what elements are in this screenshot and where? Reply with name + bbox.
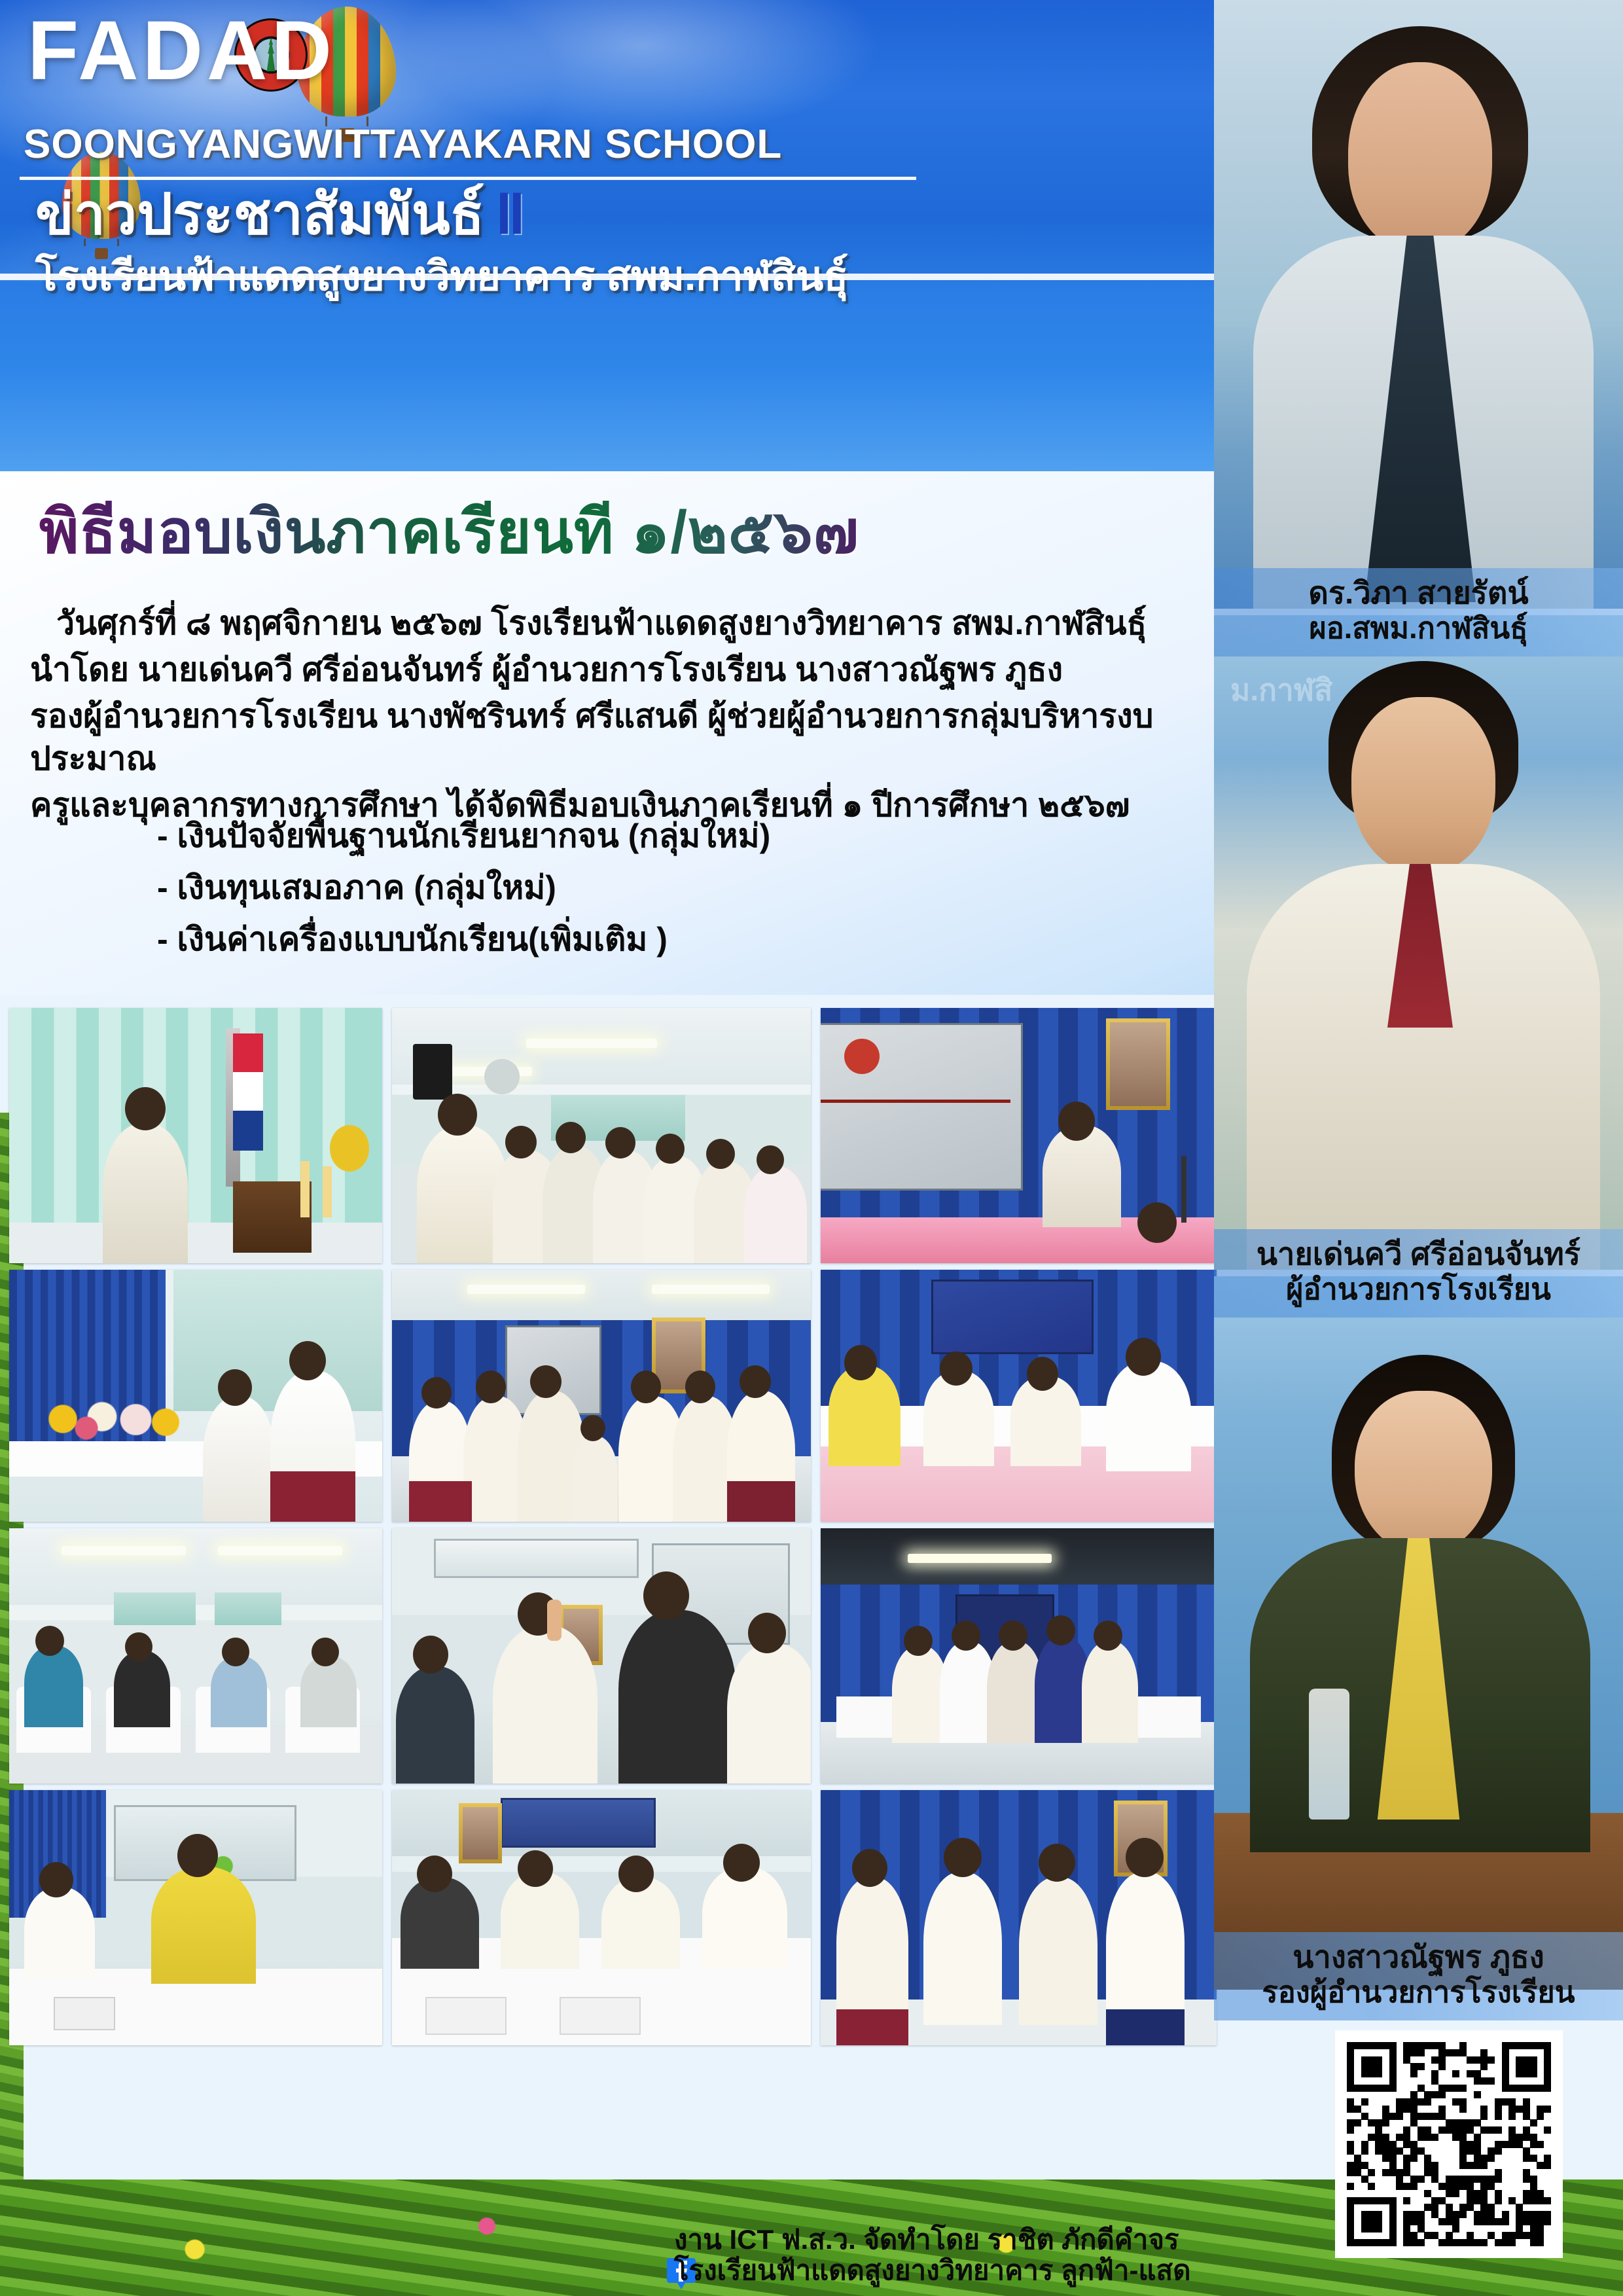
news-title-thai: ข่าวประชาสัมพันธ์ll (35, 185, 522, 244)
photo-award-line-up-stage (821, 1790, 1217, 2045)
credit-line-2: โรงเรียนฟ้าแดดสูงยางวิทยาคาร ลูกฟ้า-แสด (674, 2255, 1394, 2286)
person-title: ผู้อำนวยการโรงเรียน (1218, 1272, 1619, 1306)
allowance-list: - เงินปัจจัยพื้นฐานนักเรียนยากจน (กลุ่มใ… (157, 810, 1139, 965)
photo-teachers-at-desk (9, 1790, 382, 2045)
photo-students-signing-documents (821, 1270, 1217, 1522)
header-divider (20, 177, 916, 180)
person-name: นายเด่นควี ศรีอ่อนจันทร์ (1218, 1236, 1619, 1272)
photo-staff-students-wai (392, 1008, 811, 1263)
photo-teacher-speaking-flowers (9, 1270, 382, 1522)
name-label-director-spm: ดร.วิภา สายรัตน์ ผอ.สพม.กาฬสินธุ์ (1214, 568, 1623, 656)
body-line-1: วันศุกร์ที่ ๘ พฤศจิกายน ๒๕๖๗ โรงเรียนฟ้า… (30, 602, 1215, 645)
school-name-english: SOONGYANGWITTAYAKARN SCHOOL (24, 124, 782, 165)
list-item: - เงินปัจจัยพื้นฐานนักเรียนยากจน (กลุ่มใ… (157, 810, 1139, 862)
footer-credit: งาน ICT ฟ.ส.ว. จัดทำโดย ราชิต ภักดีคำจร … (674, 2224, 1394, 2286)
portrait-photo-deputy-director (1214, 1276, 1623, 1990)
person-name: นางสาวณัฐพร ภูธง (1218, 1939, 1619, 1975)
brand-title: FADAD (27, 9, 336, 93)
body-line-2: นำโดย นายเด่นควี ศรีอ่อนจันทร์ ผู้อำนวยก… (30, 649, 1215, 691)
photo-students-raising-hands (392, 1528, 811, 1784)
person-name: ดร.วิภา สายรัตน์ (1218, 575, 1619, 611)
name-label-deputy-director: นางสาวณัฐพร ภูธง รองผู้อำนวยการโรงเรียน (1214, 1932, 1623, 2020)
qr-code[interactable] (1335, 2030, 1563, 2258)
portrait-column: ดร.วิภา สายรัตน์ ผอ.สพม.กาฬสินธุ์ นายเด่… (1214, 0, 1623, 2296)
news-title-text: ข่าวประชาสัมพันธ์ (35, 183, 484, 246)
photo-group-award-presentation (392, 1270, 811, 1522)
photo-students-receiving-awards (821, 1528, 1217, 1784)
person-title: ผอ.สพม.กาฬสินธุ์ (1218, 611, 1619, 645)
photo-parents-filling-forms (392, 1790, 811, 2045)
page-headline: พิธีมอบเงินภาคเรียนที่ ๑/๒๕๖๗ (39, 501, 859, 564)
list-item: - เงินค่าเครื่องแบบนักเรียน(เพิ่มเติม ) (157, 914, 1139, 965)
portrait-photo-director-spm (1214, 0, 1623, 609)
body-line-3: รองผู้อำนวยการโรงเรียน นางพัชรินทร์ ศรีแ… (30, 695, 1215, 780)
photo-ceremony-wai-flag (9, 1008, 382, 1263)
poster-root: FADAD SOONGYANGWITTAYAKARN SCHOOL ข่าวปร… (0, 0, 1623, 2296)
news-title-accent: ll (496, 183, 522, 246)
photo-projector-briefing (821, 1008, 1217, 1263)
list-item: - เงินทุนเสมอภาค (กลุ่มใหม่) (157, 862, 1139, 914)
announcement-body: วันศุกร์ที่ ๘ พฤศจิกายน ๒๕๖๗ โรงเรียนฟ้า… (30, 602, 1215, 831)
photo-watermark: ม.กาฬสิ (1230, 666, 1332, 714)
photo-parents-seated-hall (9, 1528, 382, 1784)
person-title: รองผู้อำนวยการโรงเรียน (1218, 1975, 1619, 2009)
name-label-school-director: นายเด่นควี ศรีอ่อนจันทร์ ผู้อำนวยการโรงเ… (1214, 1229, 1623, 1318)
photo-grid (9, 1008, 1217, 2294)
credit-line-1: งาน ICT ฟ.ส.ว. จัดทำโดย ราชิต ภักดีคำจร (674, 2224, 1394, 2255)
